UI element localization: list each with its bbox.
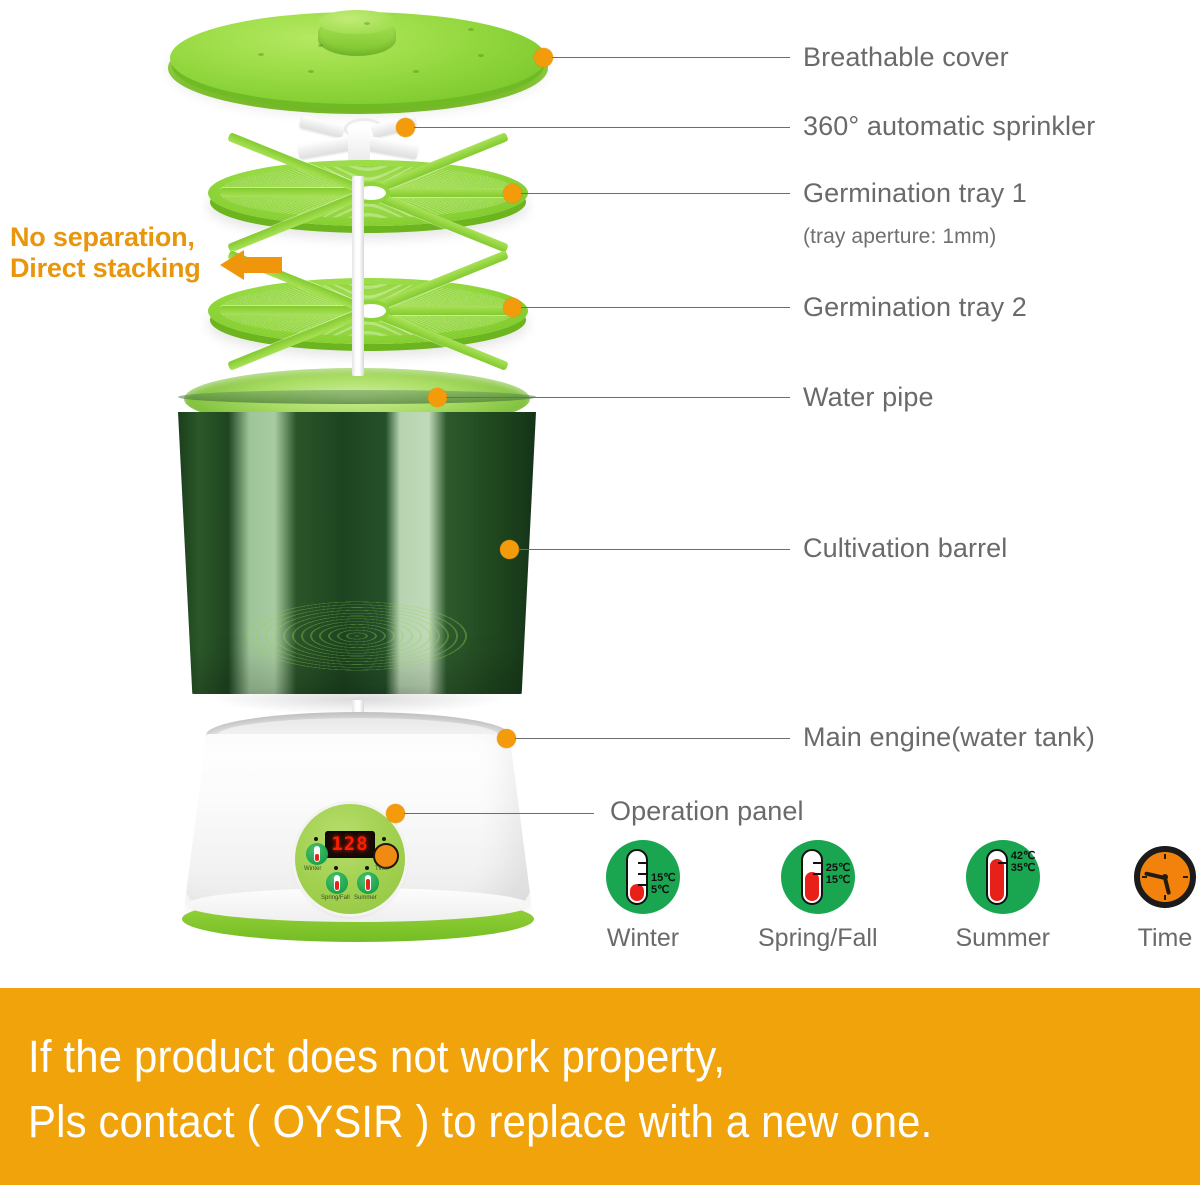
legend-item-winter[interactable]: 15℃ 5℃ Winter [606,840,680,953]
panel-button-summer-label: Summer [354,895,377,901]
legend-temp-high-summer: 42℃ [1011,850,1036,862]
germination-tray-2-part [208,278,528,354]
infographic-canvas: 128 Winter Time Spri [0,0,1200,1185]
callout-label-water-pipe: Water pipe [803,382,934,413]
led-display: 128 [325,831,375,858]
callout-label-germination-tray-2: Germination tray 2 [803,292,1027,323]
legend-temp-low-summer: 35℃ [1011,862,1036,874]
thermometer-icon-spring-fall: 25℃ 15℃ [781,840,855,914]
legend-temp-summer: 42℃ 35℃ [1011,850,1036,874]
callout-dot-water-pipe [428,388,447,407]
callout-leader-operation-panel [404,813,594,814]
thermometer-icon-winter: 15℃ 5℃ [606,840,680,914]
callout-leader-germination-tray-1 [521,193,790,194]
legend-temp-high-winter: 15℃ [651,872,676,884]
legend-item-spring-fall[interactable]: 25℃ 15℃ Spring/Fall [758,840,878,953]
callout-label-main-engine: Main engine(water tank) [803,722,1095,753]
callout-sublabel-tray-aperture: (tray aperture: 1mm) [803,225,996,249]
no-separation-note: No separation, Direct stacking [10,222,201,284]
legend-temp-low-winter: 5℃ [651,884,676,896]
no-separation-note-line2: Direct stacking [10,253,201,284]
callout-label-sprinkler: 360° automatic sprinkler [803,111,1095,142]
water-pipe-part [352,176,364,376]
callout-label-operation-panel: Operation panel [610,796,804,827]
legend-item-time[interactable]: Time [1128,840,1200,953]
panel-button-spring-fall[interactable]: Spring/Fall [321,866,351,900]
led-display-value: 128 [331,835,368,854]
callout-label-cultivation-barrel: Cultivation barrel [803,533,1007,564]
legend-temp-spring-fall: 25℃ 15℃ [826,862,851,886]
legend-item-summer[interactable]: 42℃ 35℃ Summer [956,840,1050,953]
callout-dot-germination-tray-1 [503,184,522,203]
panel-button-spring-fall-label: Spring/Fall [321,895,350,901]
callout-dot-germination-tray-2 [503,298,522,317]
warranty-banner-line2: Pls contact ( OYSIR ) to replace with a … [28,1096,932,1148]
callout-label-germination-tray-1: Germination tray 1 [803,178,1027,209]
legend-label-time: Time [1138,924,1193,953]
callout-dot-cultivation-barrel [500,540,519,559]
main-engine-part: 128 Winter Time Spri [182,712,534,944]
callout-leader-sprinkler [414,127,790,128]
legend-temp-high-spring-fall: 25℃ [826,862,851,874]
callout-dot-breathable-cover [534,48,553,67]
callout-dot-operation-panel [386,804,405,823]
callout-leader-main-engine [515,738,790,739]
breathable-cover-part [168,8,548,118]
clock-icon-time [1128,840,1200,914]
legend-label-summer: Summer [956,924,1050,953]
callout-leader-germination-tray-2 [521,307,790,308]
panel-button-winter-label: Winter [304,866,321,872]
no-separation-note-line1: No separation, [10,222,201,253]
legend-label-spring-fall: Spring/Fall [758,924,878,953]
callout-leader-water-pipe [446,397,790,398]
callout-leader-breathable-cover [552,57,790,58]
thermometer-icon-summer: 42℃ 35℃ [966,840,1040,914]
callout-dot-sprinkler [396,118,415,137]
warranty-banner-line1: If the product does not work property, [28,1031,725,1083]
callout-label-breathable-cover: Breathable cover [803,42,1009,73]
legend-temp-winter: 15℃ 5℃ [651,872,676,896]
cultivation-barrel-part [178,368,536,716]
panel-button-summer[interactable]: Summer [353,866,381,900]
legend-label-winter: Winter [607,924,679,953]
warranty-banner: If the product does not work property, P… [0,988,1200,1185]
callout-dot-main-engine [497,729,516,748]
germination-tray-1-part [208,160,528,236]
legend-temp-low-spring-fall: 15℃ [826,874,851,886]
stacking-arrow-icon [218,248,284,287]
mode-legend: 15℃ 5℃ Winter 25℃ 15℃ Spring/Fall [606,840,1200,953]
callout-leader-cultivation-barrel [518,549,790,550]
